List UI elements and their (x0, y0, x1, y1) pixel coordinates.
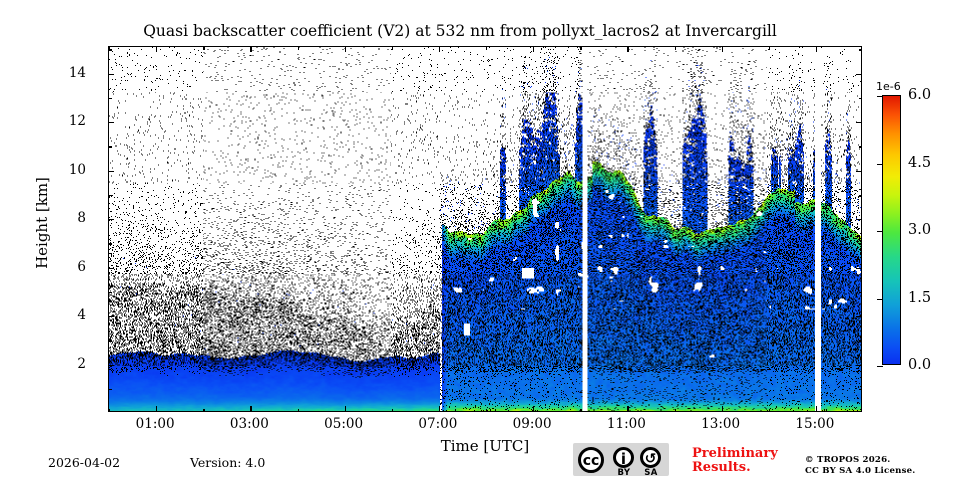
x-axis-major-tick (345, 46, 346, 52)
y-axis-minor-tick (859, 195, 863, 196)
y-axis-major-tick (856, 268, 862, 269)
colorbar (882, 95, 901, 365)
y-axis-major-tick (856, 122, 862, 123)
lidar-quicklook-figure: Quasi backscatter coefficient (V2) at 53… (0, 0, 960, 480)
x-axis-minor-tick (769, 46, 770, 50)
x-axis-minor-tick (109, 409, 110, 413)
y-axis-major-tick (856, 365, 862, 366)
y-axis-minor-tick (859, 292, 863, 293)
y-axis-major-tick (856, 316, 862, 317)
x-axis-major-tick (816, 406, 817, 412)
y-axis-tick-label: 8 (77, 210, 86, 226)
y-axis-major-tick (108, 268, 114, 269)
x-axis-tick-label: 07:00 (418, 416, 457, 432)
y-axis-minor-tick (108, 146, 112, 147)
heatmap-plot-area (108, 46, 862, 412)
colorbar-tick-label: 1.5 (908, 290, 931, 306)
footer-version: Version: 4.0 (190, 455, 265, 470)
y-axis-tick-label: 2 (77, 356, 86, 372)
cc-sa-label: SA (639, 468, 663, 478)
preliminary-line-1: Preliminary (692, 447, 802, 461)
y-axis-major-tick (856, 219, 862, 220)
x-axis-tick-label: 05:00 (324, 416, 363, 432)
x-axis-major-tick (533, 406, 534, 412)
colorbar-tick (877, 231, 883, 232)
x-axis-tick-label: 01:00 (136, 416, 175, 432)
heatmap-canvas (109, 47, 861, 411)
y-axis-minor-tick (859, 243, 863, 244)
preliminary-results-notice: Preliminary Results. (692, 447, 802, 475)
colorbar-tick (877, 366, 883, 367)
x-axis-major-tick (627, 46, 628, 52)
y-axis-tick-label: 10 (69, 162, 86, 178)
x-axis-minor-tick (580, 409, 581, 413)
cc-by-person-icon: i (613, 447, 634, 468)
x-axis-minor-tick (203, 409, 204, 413)
colorbar-tick-label: 4.5 (908, 155, 931, 171)
colorbar-tick (877, 164, 883, 165)
x-axis-major-tick (439, 406, 440, 412)
y-axis-minor-tick (108, 243, 112, 244)
x-axis-major-tick (816, 46, 817, 52)
y-axis-minor-tick (859, 340, 863, 341)
x-axis-tick-label: 09:00 (513, 416, 552, 432)
y-axis-major-tick (108, 171, 114, 172)
x-axis-major-tick (722, 406, 723, 412)
x-axis-minor-tick (298, 409, 299, 413)
colorbar-tick-label: 0.0 (908, 357, 931, 373)
y-axis-minor-tick (108, 49, 112, 50)
x-axis-major-tick (345, 406, 346, 412)
preliminary-line-2: Results. (692, 461, 802, 475)
y-axis-minor-tick (859, 389, 863, 390)
x-axis-major-tick (627, 406, 628, 412)
colorbar-tick-label: 3.0 (908, 222, 931, 238)
y-axis-major-tick (108, 316, 114, 317)
x-axis-minor-tick (392, 409, 393, 413)
creative-commons-badge-icon: cc i ↺ BY SA (573, 443, 669, 476)
x-axis-tick-label: 11:00 (607, 416, 646, 432)
x-axis-tick-label: 13:00 (701, 416, 740, 432)
x-axis-minor-tick (486, 409, 487, 413)
y-axis-major-tick (108, 365, 114, 366)
copyright-notice: © TROPOS 2026. CC BY SA 4.0 License. (805, 455, 915, 477)
x-axis-minor-tick (675, 409, 676, 413)
y-axis-minor-tick (108, 389, 112, 390)
cc-sharealike-arrow-icon: ↺ (640, 447, 661, 468)
y-axis-tick-label: 12 (69, 113, 86, 129)
copyright-line-1: © TROPOS 2026. (805, 455, 915, 466)
x-axis-minor-tick (486, 46, 487, 50)
x-axis-tick-label: 15:00 (795, 416, 834, 432)
x-axis-major-tick (533, 46, 534, 52)
cc-logo-icon: cc (578, 447, 604, 473)
y-axis-minor-tick (108, 195, 112, 196)
y-axis-major-tick (856, 74, 862, 75)
footer-date: 2026-04-02 (48, 455, 120, 470)
y-axis-major-tick (108, 74, 114, 75)
y-axis-major-tick (856, 171, 862, 172)
y-axis-tick-label: 6 (77, 259, 86, 275)
colorbar-tick-label: 6.0 (908, 87, 931, 103)
y-axis-major-tick (108, 122, 114, 123)
colorbar-offset-label: 1e-6 (876, 80, 901, 93)
heatmap-canvas-wrapper (109, 47, 861, 411)
y-axis-minor-tick (108, 340, 112, 341)
copyright-line-2: CC BY SA 4.0 License. (805, 466, 915, 477)
y-axis-title: Height [km] (33, 143, 51, 303)
y-axis-tick-label: 4 (77, 307, 86, 323)
y-axis-minor-tick (859, 49, 863, 50)
page-title: Quasi backscatter coefficient (V2) at 53… (0, 22, 920, 40)
x-axis-minor-tick (580, 46, 581, 50)
x-axis-major-tick (250, 406, 251, 412)
x-axis-minor-tick (392, 46, 393, 50)
y-axis-minor-tick (859, 146, 863, 147)
colorbar-tick (877, 299, 883, 300)
x-axis-major-tick (250, 46, 251, 52)
x-axis-major-tick (439, 46, 440, 52)
x-axis-tick-label: 03:00 (230, 416, 269, 432)
x-axis-major-tick (156, 46, 157, 52)
y-axis-minor-tick (108, 98, 112, 99)
x-axis-minor-tick (769, 409, 770, 413)
cc-by-label: BY (612, 468, 636, 478)
x-axis-minor-tick (675, 46, 676, 50)
y-axis-minor-tick (859, 98, 863, 99)
x-axis-major-tick (156, 406, 157, 412)
y-axis-major-tick (108, 219, 114, 220)
y-axis-minor-tick (108, 292, 112, 293)
x-axis-major-tick (722, 46, 723, 52)
y-axis-tick-label: 14 (69, 65, 86, 81)
x-axis-minor-tick (298, 46, 299, 50)
x-axis-minor-tick (203, 46, 204, 50)
colorbar-tick (877, 96, 883, 97)
